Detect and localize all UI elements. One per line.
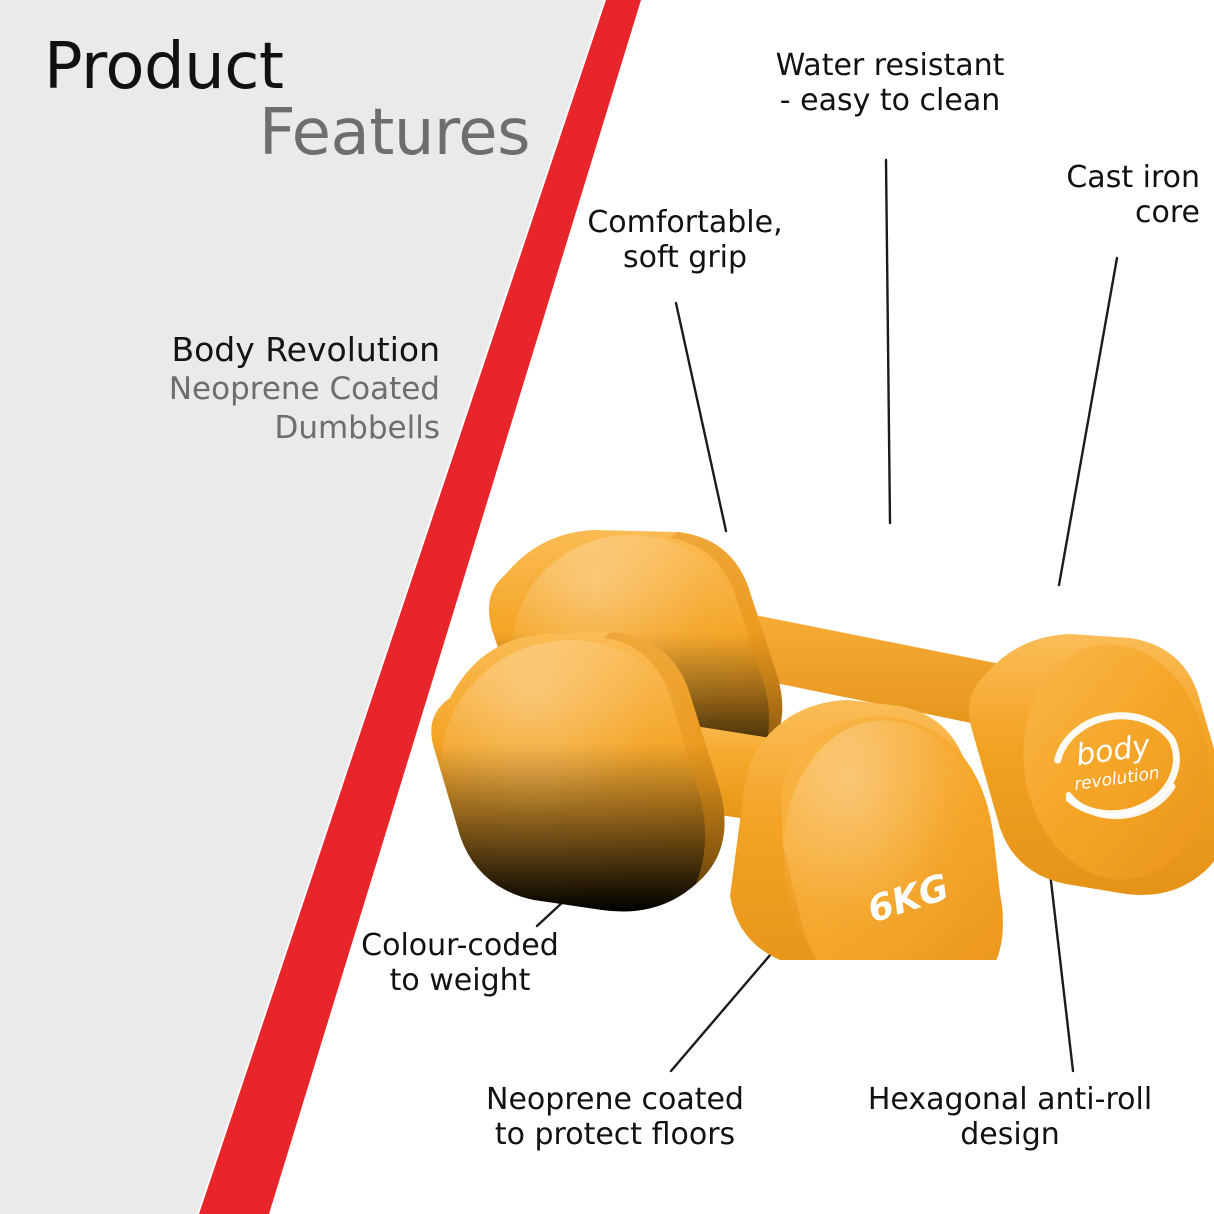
infographic-canvas: Product Features Body Revolution Neopren… (0, 0, 1214, 1214)
front-dumbbell-left-head (431, 632, 724, 912)
front-dumbbell-weight-face: 6KG (770, 710, 1011, 960)
callout-neoprene-coated: Neoprene coated to protect floors (450, 1082, 780, 1153)
callout-comfortable-grip: Comfortable, soft grip (540, 205, 830, 276)
product-name-block: Body Revolution Neoprene Coated Dumbbell… (40, 330, 440, 448)
page-title-line-one: Product (44, 36, 544, 99)
callout-water-resistant: Water resistant - easy to clean (740, 48, 1040, 119)
page-title-line-two: Features (44, 101, 544, 165)
product-descriptor-line-two: Dumbbells (40, 409, 440, 448)
product-image-dumbbells: body revolution (430, 490, 1214, 960)
front-dumbbell-right-head: 6KG (730, 700, 1010, 960)
product-descriptor-line-one: Neoprene Coated (40, 370, 440, 409)
callout-cast-iron-core: Cast iron core (960, 160, 1200, 231)
callout-hexagonal-design: Hexagonal anti-roll design (830, 1082, 1190, 1153)
rear-dumbbell-right-head: body revolution (969, 632, 1214, 895)
brand-name: Body Revolution (40, 330, 440, 370)
page-title: Product Features (44, 36, 544, 165)
